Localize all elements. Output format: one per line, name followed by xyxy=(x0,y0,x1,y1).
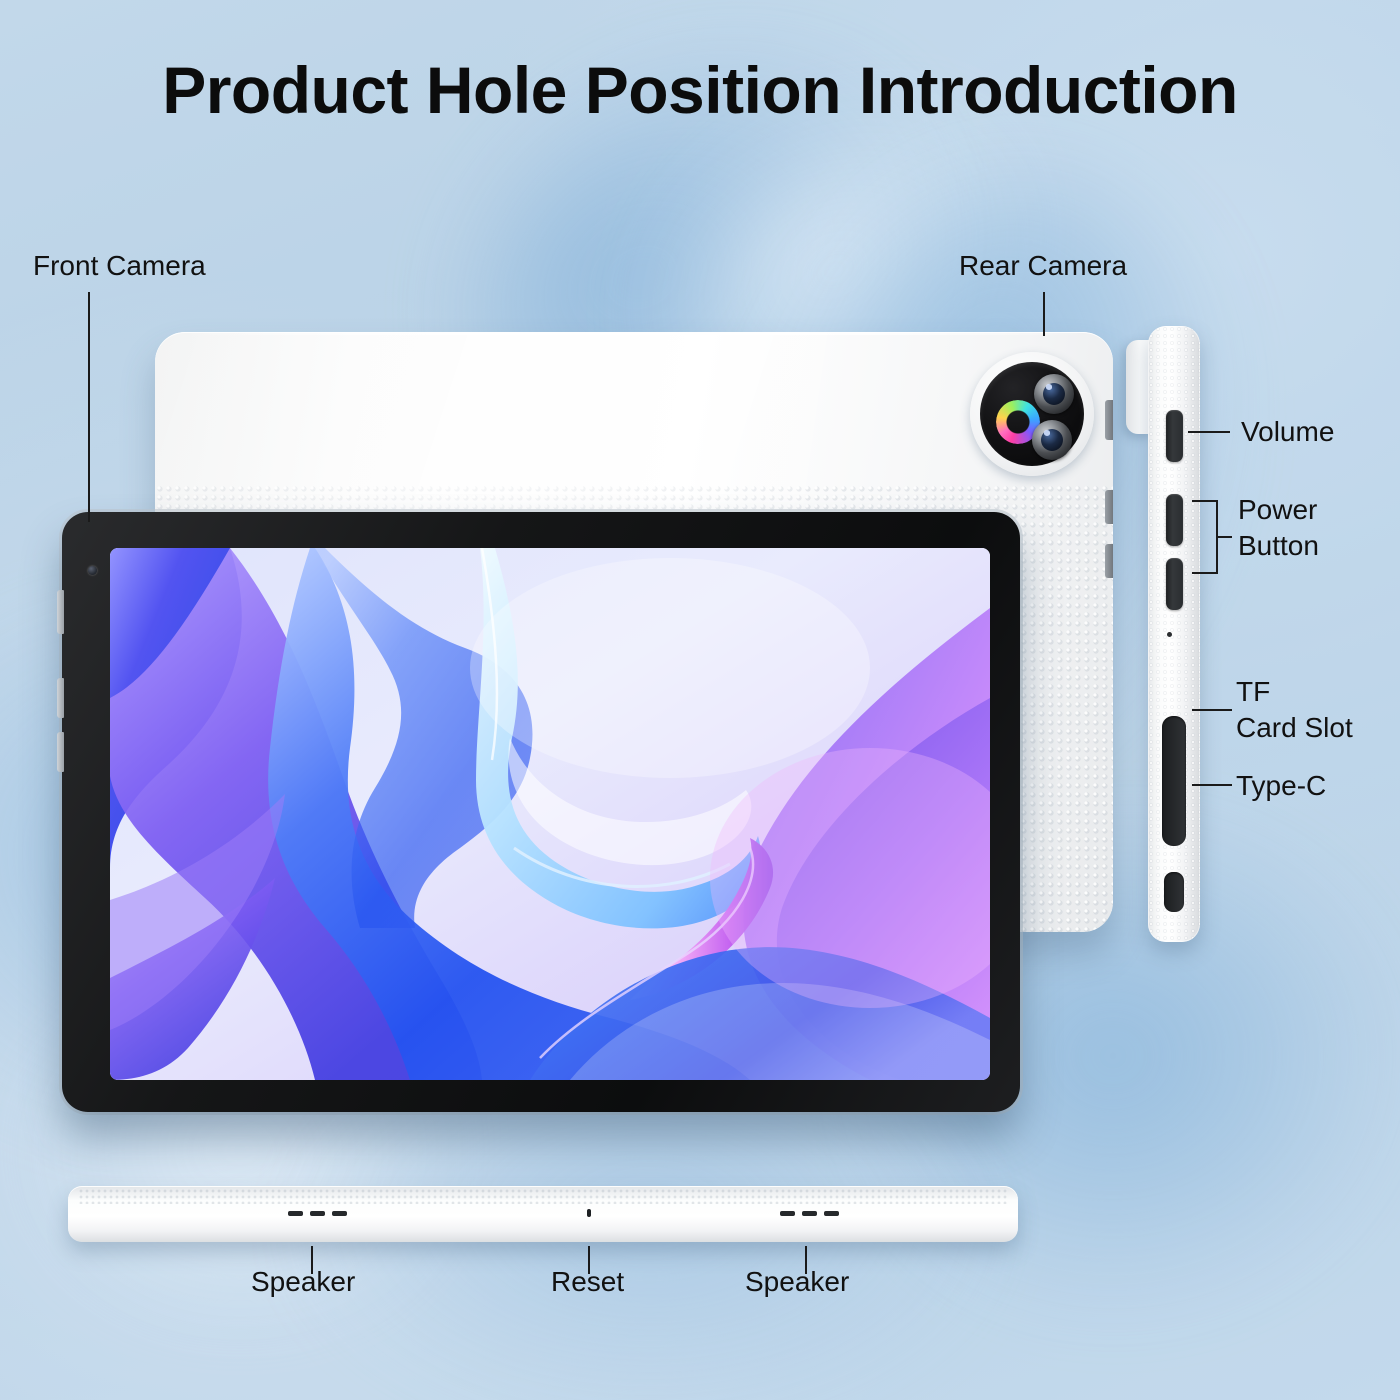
power-button-upper[interactable] xyxy=(1166,494,1183,546)
leader-bracket-power-top xyxy=(1192,500,1218,502)
leader-line-type-c xyxy=(1192,784,1232,786)
front-power-nub-lower xyxy=(57,732,64,772)
callout-reset: Reset xyxy=(551,1264,624,1300)
callout-front-camera: Front Camera xyxy=(33,248,206,284)
leader-line-rear-camera xyxy=(1043,292,1045,336)
microphone-pinhole xyxy=(1167,632,1172,637)
callout-type-c: Type-C xyxy=(1236,768,1326,804)
callout-volume: Volume xyxy=(1241,414,1334,450)
rear-lens-secondary xyxy=(1032,420,1072,460)
tablet-front-view xyxy=(62,512,1020,1112)
speaker-grille-left xyxy=(288,1211,347,1216)
lens-glint xyxy=(1044,430,1050,435)
volume-button[interactable] xyxy=(1166,410,1183,462)
back-panel-top-highlight xyxy=(177,333,1091,335)
tablet-bottom-edge-view xyxy=(68,1186,1018,1242)
tf-card-slot[interactable] xyxy=(1162,716,1186,846)
callout-speaker-left: Speaker xyxy=(251,1264,355,1300)
front-volume-nub xyxy=(57,590,64,634)
callout-tf-card-slot: TF Card Slot xyxy=(1236,674,1353,746)
power-button-lower[interactable] xyxy=(1166,558,1183,610)
back-power-nub-upper xyxy=(1105,490,1113,524)
speaker-grille-right xyxy=(780,1211,839,1216)
leader-line-tf-card-slot xyxy=(1192,709,1232,711)
tablet-side-profile-view xyxy=(1148,326,1200,942)
callout-power-button: Power Button xyxy=(1238,492,1319,564)
leader-line-volume xyxy=(1188,431,1230,433)
camera-glass xyxy=(980,362,1084,466)
wallpaper xyxy=(110,548,990,1080)
leader-bracket-power-bottom xyxy=(1192,572,1218,574)
rear-lens-primary xyxy=(1034,374,1074,414)
leader-line-front-camera xyxy=(88,292,90,522)
callout-speaker-right: Speaker xyxy=(745,1264,849,1300)
bottom-edge-texture xyxy=(78,1188,1008,1204)
rear-camera-module xyxy=(970,352,1094,476)
back-volume-nub xyxy=(1105,400,1113,440)
leader-bracket-power-stem xyxy=(1216,536,1232,538)
callout-rear-camera: Rear Camera xyxy=(959,248,1127,284)
page-title: Product Hole Position Introduction xyxy=(0,52,1400,128)
front-camera-lens xyxy=(88,566,97,575)
bottom-edge-body xyxy=(68,1186,1018,1242)
reset-pinhole[interactable] xyxy=(587,1209,591,1217)
tablet-screen xyxy=(110,548,990,1080)
lens-glint xyxy=(1046,384,1052,389)
back-power-nub-lower xyxy=(1105,544,1113,578)
type-c-port[interactable] xyxy=(1164,872,1184,912)
front-power-nub-upper xyxy=(57,678,64,718)
